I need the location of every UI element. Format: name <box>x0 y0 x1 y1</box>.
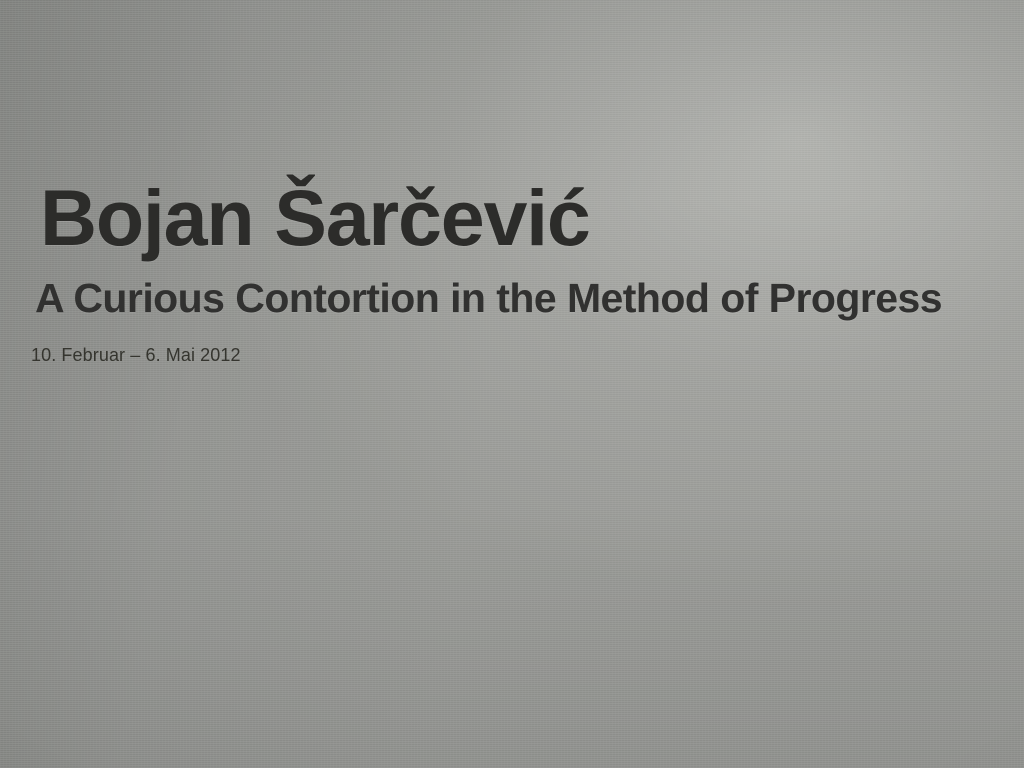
gallery-wall: Bojan Šarčević A Curious Contortion in t… <box>0 0 1024 768</box>
wall-vignette <box>0 0 1024 768</box>
wall-paint-grain <box>0 0 1024 768</box>
artist-name: Bojan Šarčević <box>30 178 1014 257</box>
wall-lighting-gradient <box>0 0 1024 768</box>
exhibition-wall-text-block: Bojan Šarčević A Curious Contortion in t… <box>30 178 1014 364</box>
exhibition-dates: 10. Februar – 6. Mai 2012 <box>30 346 1014 364</box>
exhibition-title: A Curious Contortion in the Method of Pr… <box>30 278 1014 319</box>
wall-shadow-gradient <box>0 0 1024 768</box>
